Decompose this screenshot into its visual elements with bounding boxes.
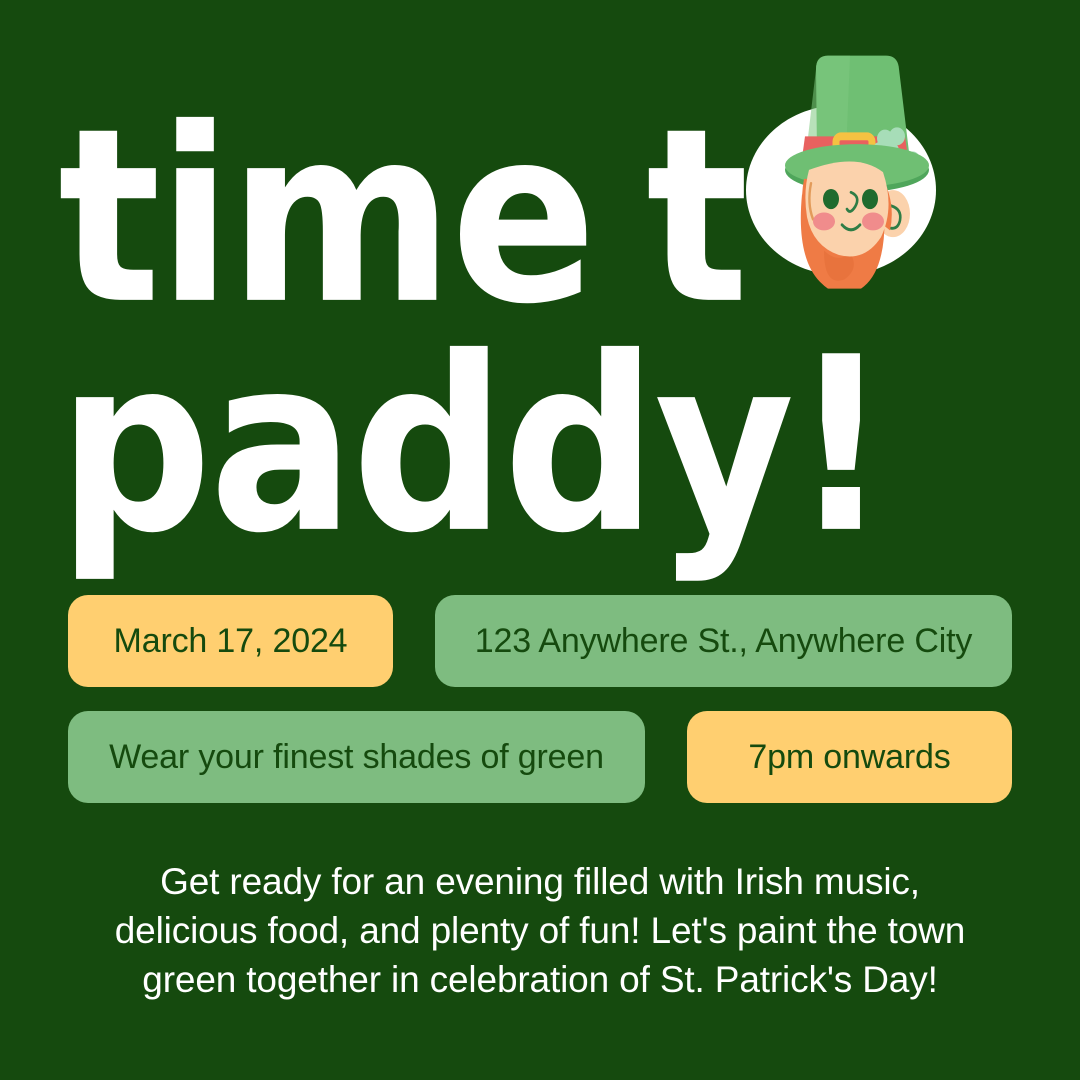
pill-date[interactable]: March 17, 2024: [68, 595, 393, 687]
headline-line-2: paddy!: [58, 325, 1080, 566]
headline-word-to-t: t: [646, 96, 746, 337]
headline-line-1: timet: [58, 96, 1080, 337]
headline-letter-o-with-mascot: [746, 96, 936, 286]
leprechaun-illustration: [754, 53, 934, 288]
poster-canvas: timet: [0, 0, 1080, 1080]
body-line-3: green together in celebration of St. Pat…: [90, 955, 990, 1004]
pill-row-1: March 17, 2024 123 Anywhere St., Anywher…: [68, 595, 1012, 687]
pill-dress-code[interactable]: Wear your finest shades of green: [68, 711, 645, 803]
pill-address[interactable]: 123 Anywhere St., Anywhere City: [435, 595, 1012, 687]
body-line-2: delicious food, and plenty of fun! Let's…: [90, 906, 990, 955]
body-line-1: Get ready for an evening filled with Iri…: [90, 857, 990, 906]
pill-row-2: Wear your finest shades of green 7pm onw…: [68, 711, 1012, 803]
headline-word-time: time: [58, 96, 594, 337]
body-paragraph: Get ready for an evening filled with Iri…: [90, 857, 990, 1005]
pill-time[interactable]: 7pm onwards: [687, 711, 1012, 803]
details-pill-group: March 17, 2024 123 Anywhere St., Anywher…: [68, 595, 1012, 827]
